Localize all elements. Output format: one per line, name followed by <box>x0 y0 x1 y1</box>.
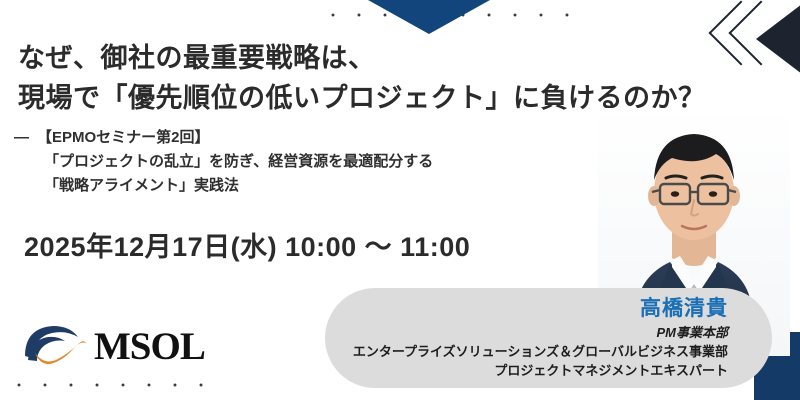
subtitle: — 【EPMOセミナー第2回】 「プロジェクトの乱立」を防ぎ、経営資源を最適配分… <box>14 126 433 198</box>
subtitle-line-2: 「プロジェクトの乱立」を防ぎ、経営資源を最適配分する <box>44 150 433 174</box>
headline-line-1: なぜ、御社の最重要戦略は、 <box>18 38 758 78</box>
speaker-department: PM事業本部 <box>349 323 728 342</box>
speaker-name: 高橋清貴 <box>349 296 728 322</box>
subtitle-line-1: 【EPMOセミナー第2回】 <box>37 126 210 150</box>
page-title: なぜ、御社の最重要戦略は、 現場で「優先順位の低いプロジェクト」に負けるのか？ <box>18 38 758 118</box>
triangle-down-icon <box>368 0 490 34</box>
msol-logo: MSOL <box>22 320 205 373</box>
chevron-left-solid-icon <box>756 4 800 74</box>
subtitle-row-1: — 【EPMOセミナー第2回】 <box>14 126 433 150</box>
em-dash: — <box>14 126 29 150</box>
event-datetime: 2025年12月17日(水) 10:00 ～ 11:00 <box>24 225 470 264</box>
seminar-banner: なぜ、御社の最重要戦略は、 現場で「優先順位の低いプロジェクト」に負けるのか？ … <box>0 0 800 400</box>
speaker-role: プロジェクトマネジメントエキスパート <box>349 361 728 380</box>
speaker-division: エンタープライズソリューションズ＆グローバルビジネス事業部 <box>349 342 728 361</box>
msol-wave-mark-icon <box>22 320 88 373</box>
dot-grid-decoration-bottom <box>6 372 216 388</box>
speaker-info-panel: 高橋清貴 PM事業本部 エンタープライズソリューションズ＆グローバルビジネス事業… <box>325 288 772 388</box>
msol-logo-text: MSOL <box>94 327 205 367</box>
subtitle-line-3: 「戦略アライメント」実践法 <box>44 174 433 198</box>
